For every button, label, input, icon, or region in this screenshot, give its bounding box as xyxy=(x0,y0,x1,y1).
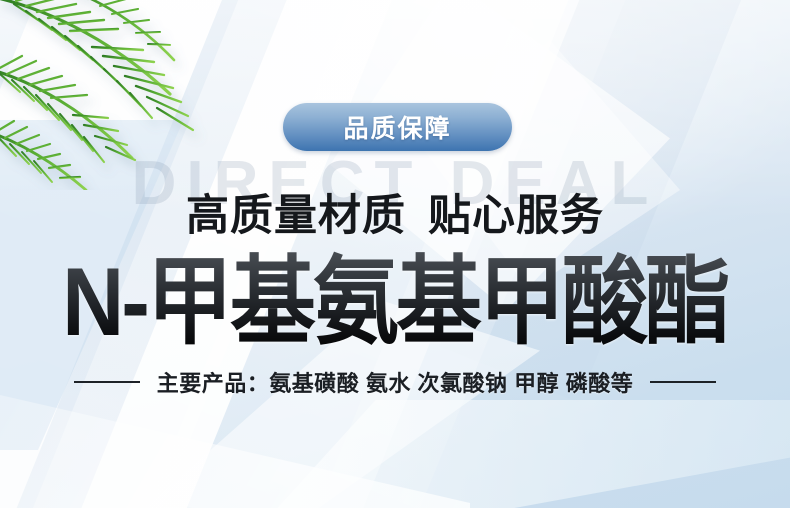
headline-right: 贴心服务 xyxy=(428,192,604,240)
main-title: N-甲基氨基甲酸酯 xyxy=(0,249,790,357)
banner-content: 品质保障 高质量材质贴心服务 N-甲基氨基甲酸酯 主要产品：氨基磺酸 氨水 次氯… xyxy=(0,0,790,508)
subtitle-row: 主要产品：氨基磺酸 氨水 次氯酸钠 甲醇 磷酸等 xyxy=(0,366,790,398)
headline-left: 高质量材质 xyxy=(186,192,406,240)
rule-right xyxy=(650,381,716,383)
rule-left xyxy=(74,381,140,383)
quality-badge-label: 品质保障 xyxy=(343,109,451,145)
promo-banner: DIRECT DEAL 品质保障 高质量材质贴心服务 N-甲基氨基甲酸酯 主要产… xyxy=(0,0,790,508)
quality-badge: 品质保障 xyxy=(283,103,512,151)
subtitle-text: 主要产品：氨基磺酸 氨水 次氯酸钠 甲醇 磷酸等 xyxy=(157,366,633,398)
headline: 高质量材质贴心服务 xyxy=(0,181,790,243)
